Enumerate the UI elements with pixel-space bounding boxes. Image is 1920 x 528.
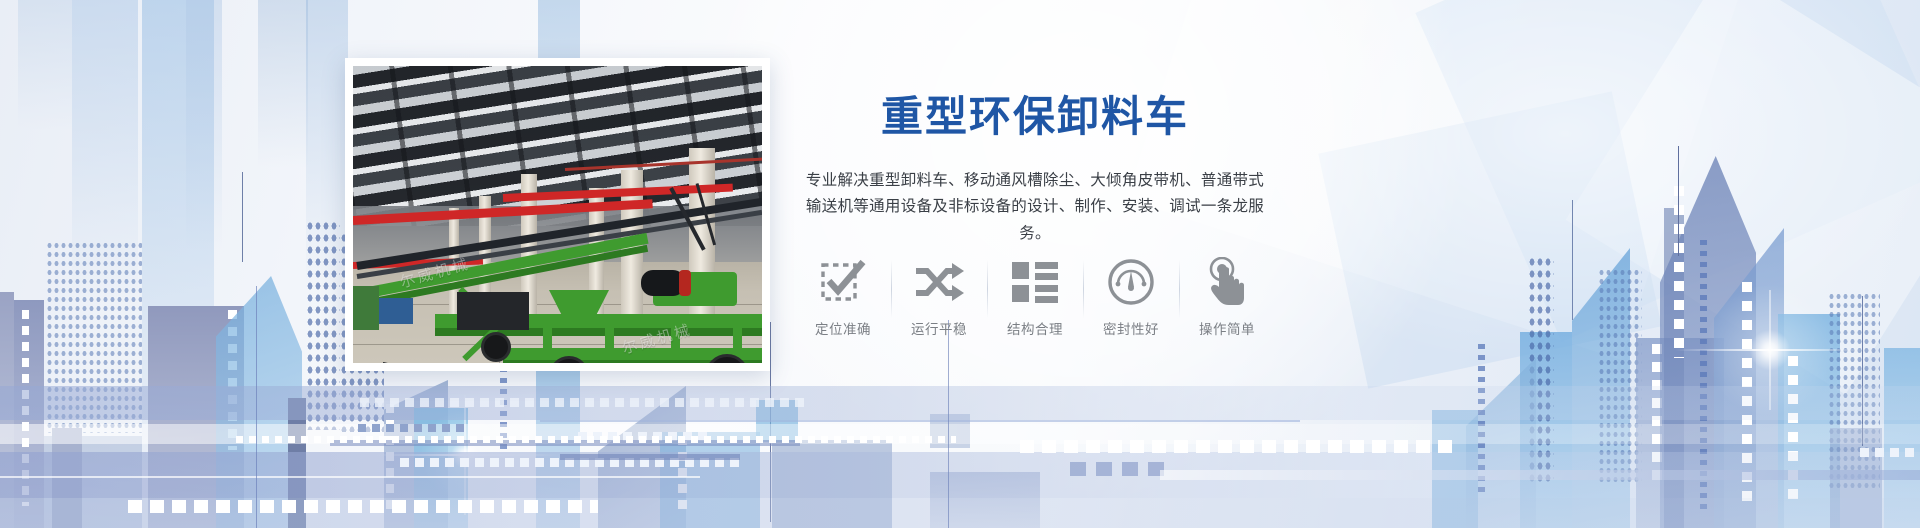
bg-building [1884, 348, 1920, 528]
bg-building [930, 472, 1040, 528]
feature-item-reasonable-structure[interactable]: 结构合理 [992, 256, 1078, 338]
bg-building [1778, 314, 1840, 528]
bg-building [598, 386, 686, 528]
bg-building [1466, 358, 1536, 528]
feature-list: 定位准确 运行平稳 [800, 256, 1270, 338]
bg-antenna [1862, 296, 1863, 446]
bg-building-windows [678, 436, 687, 516]
bg-building-windows [22, 310, 29, 506]
bg-building [52, 428, 82, 528]
bg-building-grid [1528, 256, 1554, 486]
bg-building [756, 400, 798, 442]
layout-blocks-icon [992, 256, 1078, 308]
hero-description: 专业解决重型卸料车、移动通风槽除尘、大倾角皮带机、普通带式输送机等通用设备及非标… [800, 168, 1270, 248]
bg-dot-column [1478, 344, 1485, 494]
bg-light-wash [1250, 0, 1920, 370]
bg-dashed-bar [358, 424, 468, 432]
bg-building-windows [1652, 344, 1662, 482]
seal-gauge-circle-icon [1088, 256, 1174, 308]
bg-building [1830, 428, 1882, 528]
bg-rule [330, 440, 800, 446]
product-hero-banner: 尔威机械 尔威机械 重型环保卸料车 专业解决重型卸料车、移动通风槽除尘、大倾角皮… [0, 0, 1920, 528]
product-photo-frame: 尔威机械 尔威机械 [345, 58, 770, 371]
shuffle-arrows-icon [896, 256, 982, 308]
bg-building-grid [46, 241, 142, 433]
bg-lens-flare [1690, 270, 1850, 430]
photo-machine-leg [733, 322, 742, 356]
bg-column [186, 0, 222, 250]
bg-building-grid [1598, 268, 1642, 484]
bg-dashed-bar [578, 432, 708, 441]
bg-building [1664, 208, 1684, 528]
photo-machine-drum-cap [679, 270, 691, 296]
feature-label: 结构合理 [992, 318, 1078, 338]
bg-building-grid [1828, 292, 1880, 492]
bg-building-windows [1788, 356, 1798, 506]
feature-item-smooth-operation[interactable]: 运行平稳 [896, 256, 982, 338]
bg-building [288, 398, 306, 528]
feature-separator [987, 260, 988, 318]
bg-building [384, 380, 448, 528]
bg-building-grid [306, 220, 340, 430]
feature-separator [1179, 260, 1180, 318]
bg-building-windows [1674, 186, 1684, 358]
bg-lens-flare [410, 400, 520, 510]
photo-machine-leg [605, 322, 614, 356]
bg-column [142, 0, 214, 470]
bg-rule [256, 286, 257, 528]
photo-machine-wheel [481, 332, 511, 362]
feature-item-accurate-positioning[interactable]: 定位准确 [800, 256, 886, 338]
bg-building [1122, 462, 1138, 476]
bg-column [18, 0, 72, 130]
feature-separator [891, 260, 892, 318]
bg-building [0, 292, 14, 528]
bg-rule [948, 320, 949, 528]
bg-building [14, 300, 44, 528]
bg-light-wash [700, 0, 1460, 500]
feature-separator [1083, 260, 1084, 318]
product-photo: 尔威机械 尔威机械 [353, 66, 762, 363]
bg-antenna [1678, 146, 1679, 256]
bg-building [148, 306, 244, 528]
feature-item-good-sealing[interactable]: 密封性好 [1088, 256, 1174, 338]
photo-floor-line [353, 344, 762, 345]
bg-column [306, 0, 348, 290]
feature-label: 定位准确 [800, 318, 886, 338]
bg-antenna [242, 172, 243, 262]
checkbox-dashed-check-icon [800, 256, 886, 308]
bg-dashed-bar [128, 500, 598, 513]
bg-building [1432, 410, 1478, 528]
bg-bottom-band [0, 498, 1920, 528]
bg-building [44, 436, 142, 528]
bg-building-windows [386, 404, 394, 516]
feature-label: 操作简单 [1184, 318, 1270, 338]
bg-polygon [1318, 91, 1661, 388]
bg-bottom-band [0, 452, 1920, 498]
feature-label: 密封性好 [1088, 318, 1174, 338]
bg-polygon [1415, 0, 1920, 342]
bg-building [1520, 332, 1572, 528]
bg-building [1660, 156, 1756, 528]
bg-dashed-bar [360, 398, 810, 407]
photo-machine-leg [543, 322, 552, 356]
bg-dashed-bar [236, 436, 956, 443]
bg-dashed-bar [400, 458, 740, 467]
bg-building [1572, 248, 1630, 528]
bg-rule [540, 420, 1300, 422]
hand-touch-icon [1184, 256, 1270, 308]
bg-dashed-bar [1020, 440, 1460, 453]
hero-text-block: 重型环保卸料车 专业解决重型卸料车、移动通风槽除尘、大倾角皮带机、普通带式输送机… [800, 92, 1270, 248]
bg-building [1096, 462, 1112, 476]
feature-item-simple-operation[interactable]: 操作简单 [1184, 256, 1270, 338]
bg-building [1148, 462, 1164, 476]
bg-building [930, 414, 970, 448]
bg-building [1714, 228, 1784, 528]
page-title: 重型环保卸料车 [800, 92, 1270, 142]
bg-building [1636, 338, 1724, 528]
bg-building [414, 408, 468, 528]
bg-bottom-band [0, 424, 1920, 444]
bg-polygon [1566, 0, 1920, 395]
bg-building-windows [1742, 282, 1752, 502]
bg-column [258, 0, 308, 168]
bg-building [216, 276, 302, 528]
feature-label: 运行平稳 [896, 318, 982, 338]
photo-dark-stack [457, 292, 529, 330]
bg-antenna [770, 322, 771, 522]
bg-rule [1160, 470, 1920, 480]
photo-green-panel [353, 286, 379, 330]
bg-dashed-bar [1860, 448, 1920, 457]
bg-building [660, 432, 760, 528]
bg-column [72, 0, 138, 300]
bg-building-windows [228, 310, 237, 450]
bg-antenna [1572, 200, 1573, 320]
bg-building [1070, 462, 1086, 476]
bg-rule [560, 454, 740, 460]
bg-dot-column [1700, 240, 1707, 510]
bg-rule [0, 476, 700, 478]
bg-building [772, 440, 892, 528]
bg-bottom-band [0, 386, 1920, 420]
